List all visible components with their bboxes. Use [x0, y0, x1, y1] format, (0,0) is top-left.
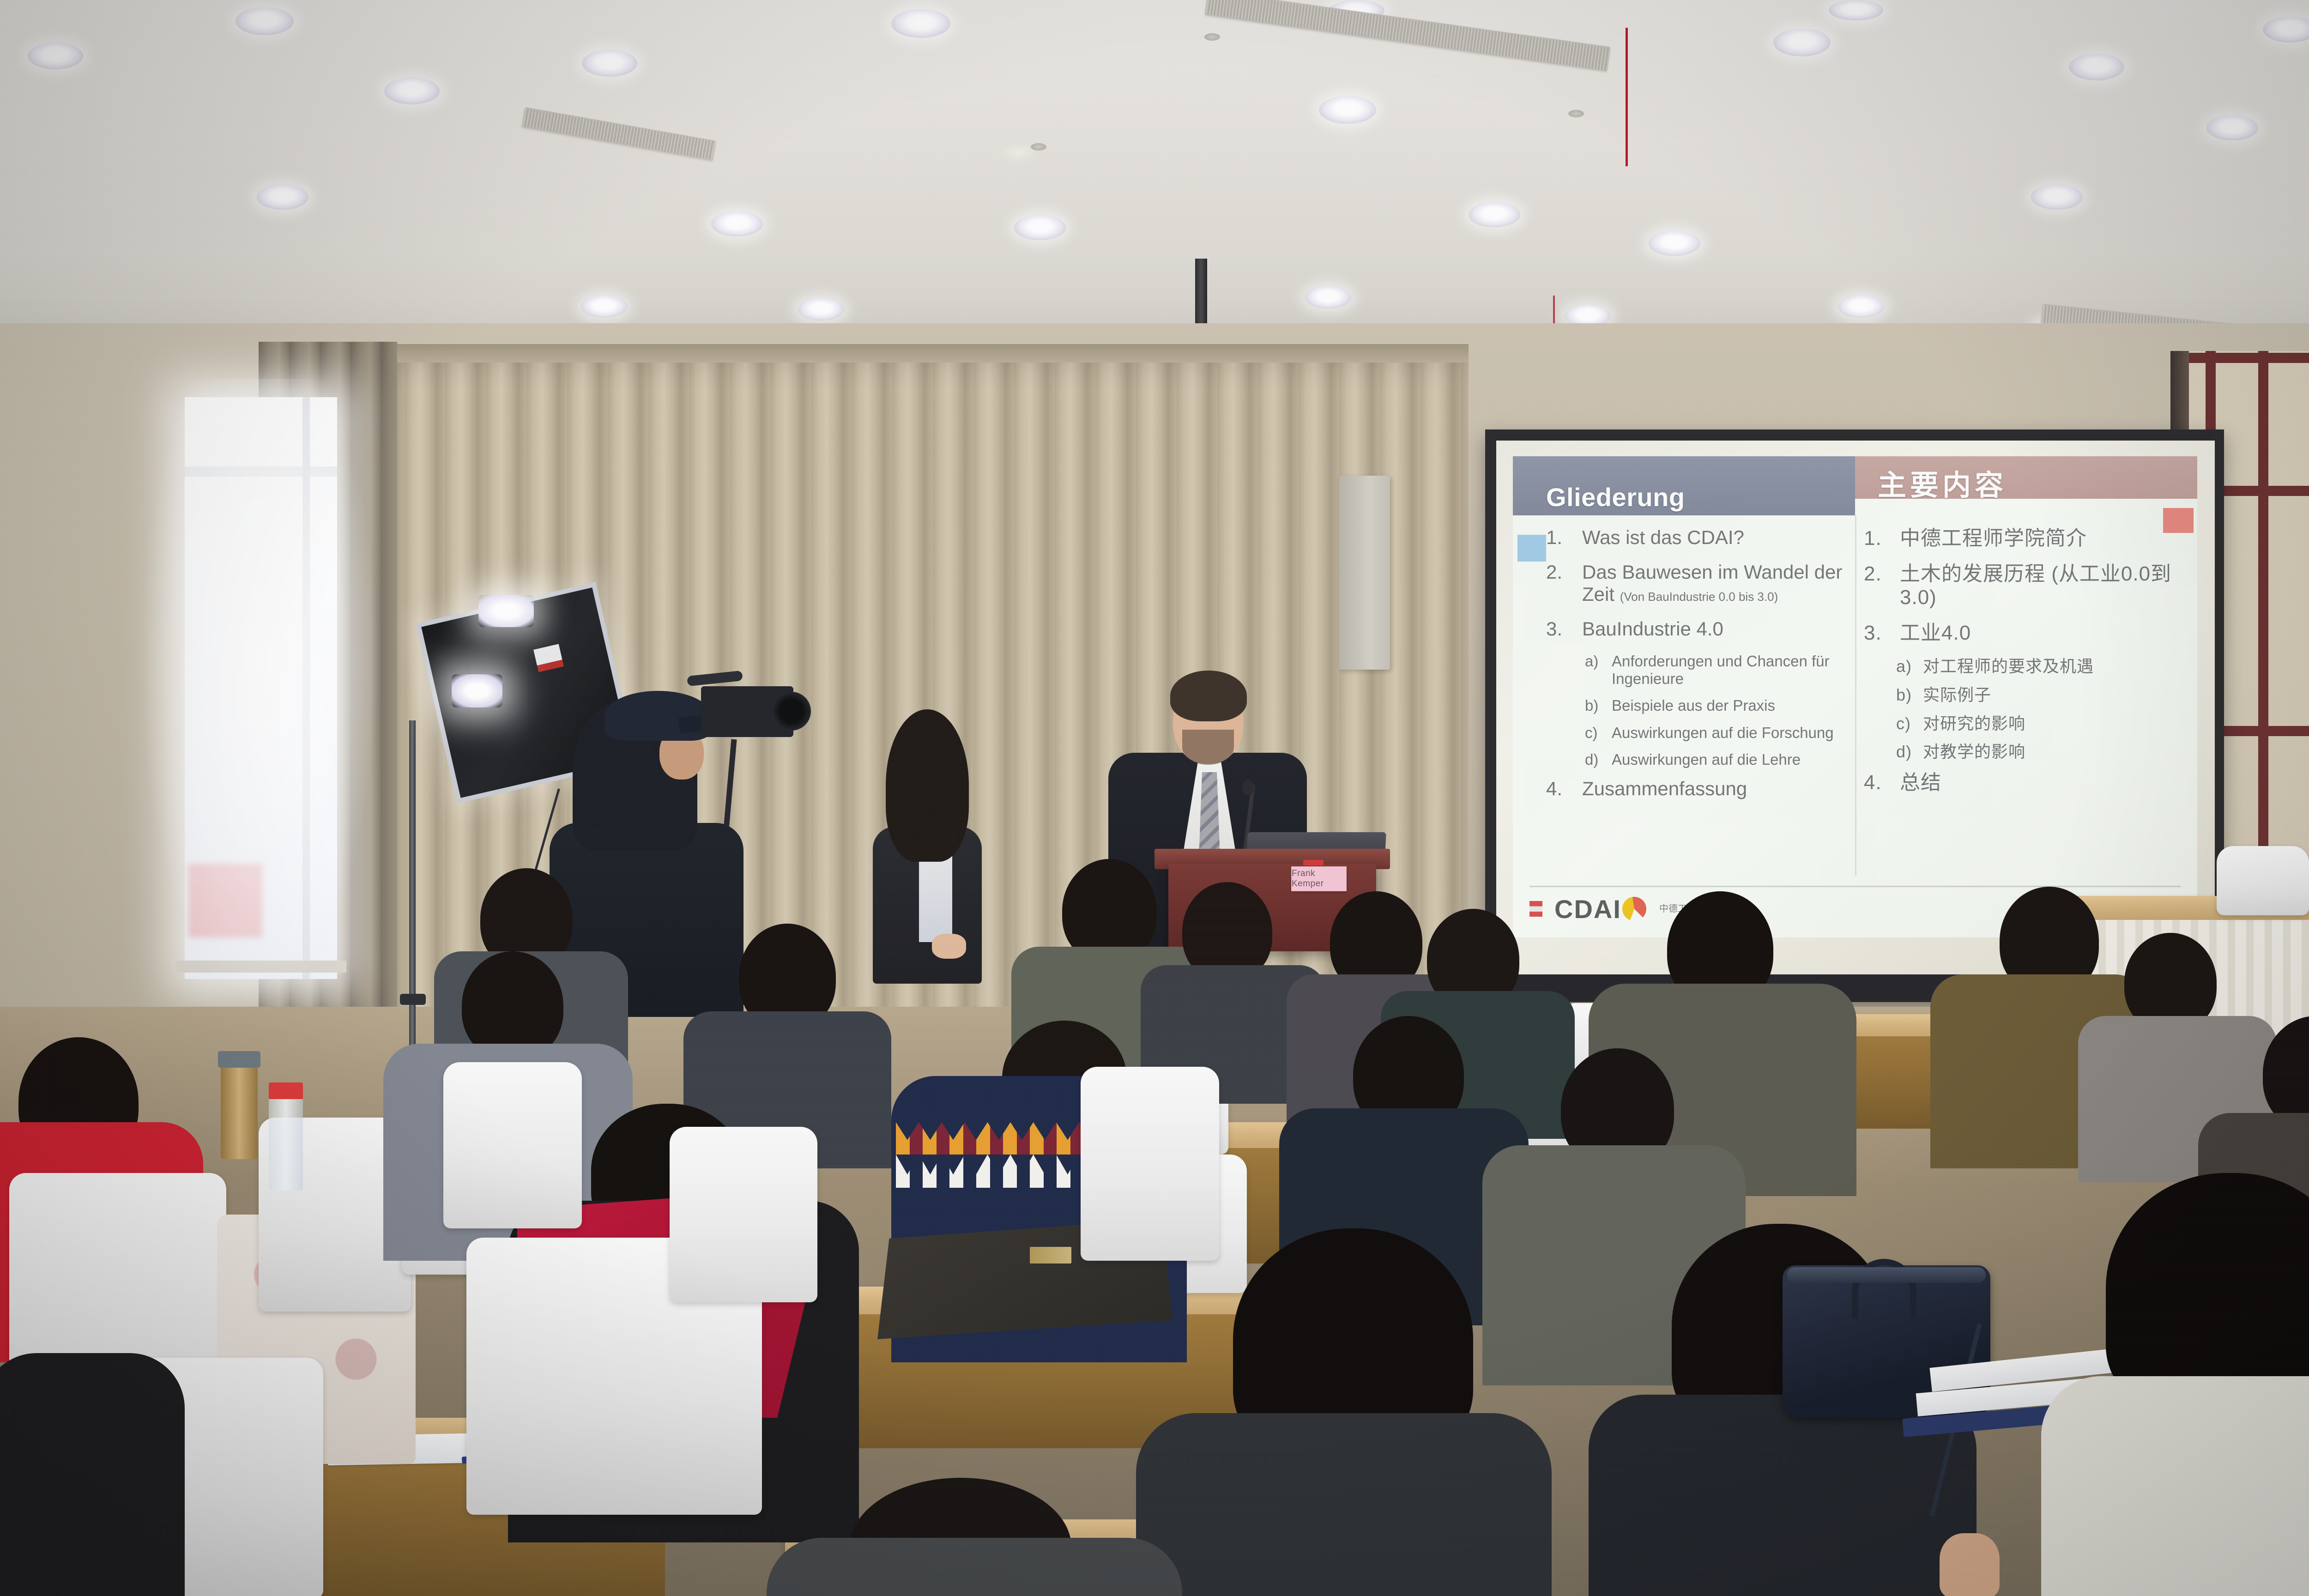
subitem-letter: a)	[1896, 657, 1916, 676]
slide-accent-blue-square	[1517, 535, 1546, 562]
ceiling-downlight	[1773, 29, 1831, 56]
chair	[2217, 846, 2309, 915]
outline-subitem: a) Anforderungen und Chancen für Ingenie…	[1585, 653, 1861, 688]
subitem-text: Auswirkungen auf die Forschung	[1612, 724, 1834, 742]
outline-number: 3.	[1546, 618, 1572, 641]
ceiling-downlight	[1319, 96, 1376, 124]
slide-title-german: Gliederung	[1546, 482, 1685, 512]
outline-number: 4.	[1864, 771, 1890, 794]
softbox-lamp	[478, 595, 534, 627]
light-stand-knob	[400, 994, 426, 1005]
window-light-glow	[139, 379, 379, 1007]
outline-item: 3. 工业4.0	[1864, 621, 2179, 645]
slide-footer-rule	[1529, 886, 2181, 887]
outline-item: 1. Was ist das CDAI?	[1546, 526, 1861, 549]
subitem-text: 实际例子	[1923, 685, 1991, 705]
outline-text: 土木的发展历程 (从工业0.0到3.0)	[1900, 562, 2179, 609]
subitem-text: 对教学的影响	[1923, 742, 2025, 762]
ceiling-downlight	[1649, 231, 1700, 256]
outline-number: 2.	[1864, 562, 1890, 609]
outline-number: 1.	[1864, 526, 1890, 550]
outline-text: Zusammenfassung	[1582, 778, 1747, 800]
subitem-letter: b)	[1896, 685, 1916, 705]
sprinkler-head	[1204, 33, 1220, 41]
ceiling-downlight	[711, 212, 763, 236]
cdai-logo: CDAI	[1554, 894, 1647, 924]
audience-body	[2041, 1376, 2309, 1596]
ceiling-downlight	[1829, 0, 1883, 20]
outline-subitem: c) 对研究的影响	[1896, 714, 2179, 733]
camera-lens	[772, 692, 811, 731]
raised-hand	[1940, 1533, 2000, 1596]
outline-item: 1. 中德工程师学院简介	[1864, 526, 2179, 550]
wall-mounted-speaker	[1339, 476, 1390, 670]
ceiling-downlight	[257, 185, 308, 210]
outline-item: 2. Das Bauwesen im Wandel der Zeit (Von …	[1546, 561, 1861, 606]
subitem-text: 对工程师的要求及机遇	[1923, 657, 2094, 676]
ceiling-downlight	[581, 296, 627, 318]
sprinkler-head	[1568, 110, 1584, 117]
chair	[670, 1127, 817, 1302]
podium-microphone	[1242, 780, 1254, 795]
subitem-text: Anforderungen und Chancen für Ingenieure	[1612, 653, 1861, 688]
handbag-zipper	[1787, 1267, 1986, 1283]
presenter-nameplate: Frank Kemper	[1291, 866, 1347, 891]
thermos-cap	[218, 1051, 260, 1068]
ceiling-downlight	[2069, 54, 2124, 80]
lattice-bar-horizontal	[2189, 353, 2309, 363]
subitem-letter: d)	[1585, 751, 1604, 768]
cdai-logo-text: CDAI	[1554, 894, 1621, 924]
hanging-red-cord	[1626, 28, 1628, 166]
subitem-letter: c)	[1585, 724, 1604, 742]
outline-text: Was ist das CDAI?	[1582, 526, 1744, 549]
cdai-swoosh-icon	[1622, 897, 1646, 921]
outline-item: 4. 总结	[1864, 771, 2179, 794]
softbox-lamp	[452, 674, 502, 707]
chair	[1081, 1067, 1219, 1261]
outline-item: 3. BauIndustrie 4.0	[1546, 618, 1861, 641]
conference-room-photo: Gliederung 主要内容 1. Was ist das CDAI? 2. …	[0, 0, 2309, 1596]
outline-subitem: d) 对教学的影响	[1896, 742, 2179, 762]
outline-number: 2.	[1546, 561, 1572, 606]
outline-number: 1.	[1546, 526, 1572, 549]
outline-item: 2. 土木的发展历程 (从工业0.0到3.0)	[1864, 562, 2179, 609]
interpreter-hands	[932, 934, 966, 959]
institution-mark-icon	[1529, 901, 1542, 917]
chair	[443, 1062, 582, 1228]
outline-subitem: b) 实际例子	[1896, 685, 2179, 705]
nameplate-accent	[1303, 860, 1324, 865]
ceiling-downlight	[384, 78, 440, 104]
ceiling-downlight	[582, 50, 637, 77]
outline-subitem: a) 对工程师的要求及机遇	[1896, 657, 2179, 676]
outline-text: BauIndustrie 4.0	[1582, 618, 1723, 641]
subitem-text: 对研究的影响	[1923, 714, 2025, 733]
slide-outline-german: 1. Was ist das CDAI? 2. Das Bauwesen im …	[1546, 526, 1861, 812]
subitem-text: Auswirkungen auf die Lehre	[1612, 751, 1801, 768]
ceiling-downlight	[2206, 115, 2258, 140]
subitem-letter: d)	[1896, 742, 1916, 762]
presentation-slide: Gliederung 主要内容 1. Was ist das CDAI? 2. …	[1513, 456, 2197, 937]
thermos-bottle	[221, 1062, 258, 1159]
audience-body	[0, 1353, 185, 1596]
ceiling-downlight	[891, 9, 950, 38]
subitem-text: Beispiele aus der Praxis	[1612, 697, 1775, 714]
outline-text: 总结	[1900, 771, 1941, 794]
slide-outline-chinese: 1. 中德工程师学院简介 2. 土木的发展历程 (从工业0.0到3.0) 3. …	[1864, 526, 2179, 806]
ceiling-downlight	[28, 42, 83, 69]
ceiling-downlight	[798, 298, 844, 320]
ceiling-downlight	[1469, 202, 1520, 227]
subitem-letter: c)	[1896, 714, 1916, 733]
ceiling-downlight	[1305, 286, 1351, 308]
ceiling-downlight	[236, 7, 294, 35]
tote-bag-logo-icon	[1030, 1247, 1071, 1263]
audience-body	[767, 1538, 1182, 1596]
audience-body	[1136, 1413, 1552, 1596]
outline-subitem: d) Auswirkungen auf die Lehre	[1585, 751, 1861, 768]
outline-number: 4.	[1546, 778, 1572, 800]
presenter-hair	[1170, 671, 1247, 721]
slide-title-chinese: 主要内容	[1878, 462, 2007, 503]
outline-subitem: c) Auswirkungen auf die Forschung	[1585, 724, 1861, 742]
presenter-beard	[1182, 730, 1234, 765]
subitem-letter: a)	[1585, 653, 1604, 688]
ceiling-downlight	[1838, 296, 1884, 318]
outline-subitem: b) Beispiele aus der Praxis	[1585, 697, 1861, 714]
outline-note: (Von BauIndustrie 0.0 bis 3.0)	[1620, 590, 1778, 604]
interpreter-hair	[886, 709, 969, 862]
water-bottle	[269, 1095, 303, 1191]
outline-text: 中德工程师学院简介	[1900, 526, 2087, 550]
outline-text: 工业4.0	[1900, 621, 1971, 645]
curtain-rail	[323, 344, 1469, 363]
ceiling-downlight	[1014, 215, 1066, 240]
sprinkler-head	[1031, 143, 1046, 151]
outline-number: 3.	[1864, 621, 1890, 645]
bottle-cap	[269, 1082, 303, 1099]
subitem-letter: b)	[1585, 697, 1604, 714]
ceiling-downlight	[2031, 185, 2083, 210]
outline-item: 4. Zusammenfassung	[1546, 778, 1861, 800]
